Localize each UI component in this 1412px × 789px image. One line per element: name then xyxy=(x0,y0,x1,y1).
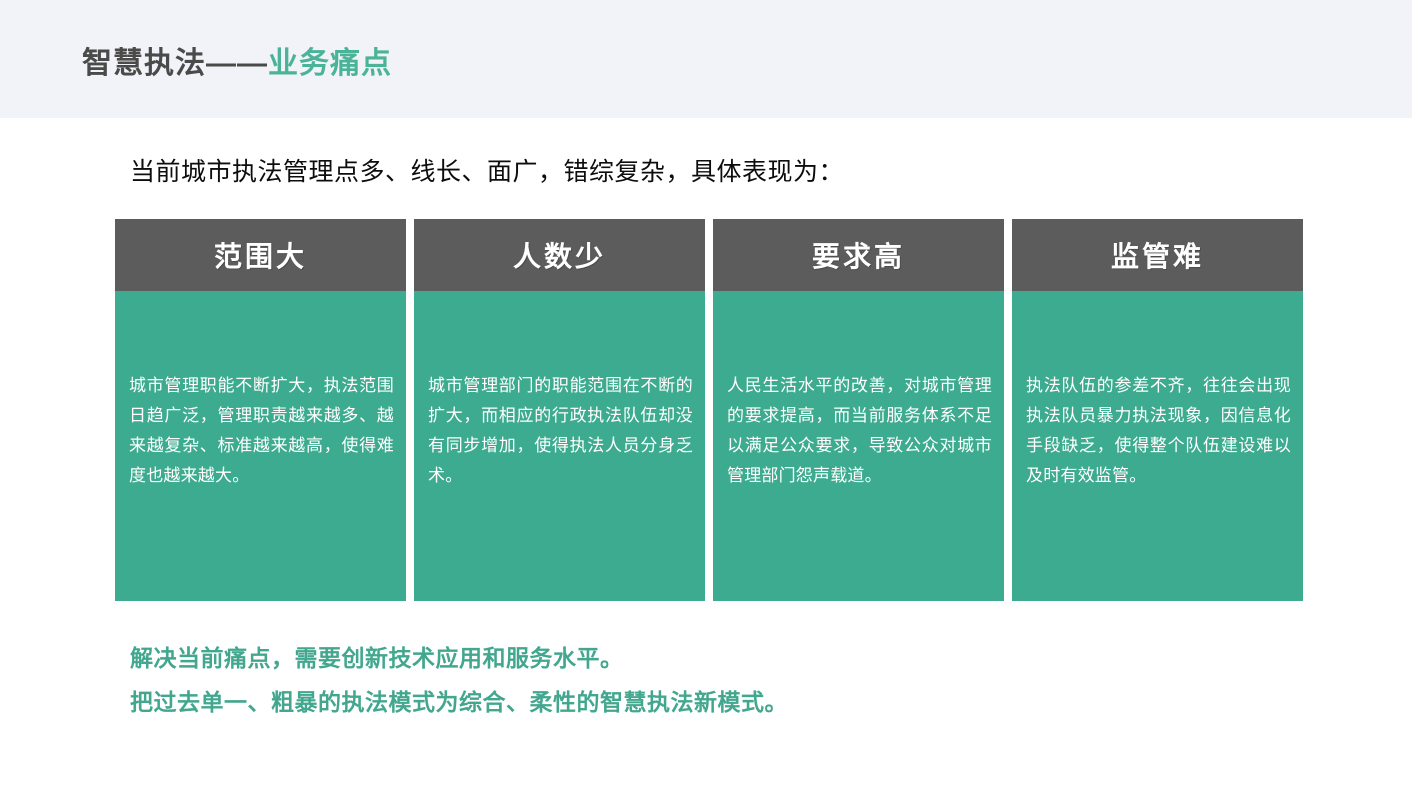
card-body: 城市管理部门的职能范围在不断的扩大，而相应的行政执法队伍却没有同步增加，使得执法… xyxy=(414,291,705,601)
page-title: 智慧执法——业务痛点 xyxy=(82,44,392,84)
pain-point-card: 要求高 人民生活水平的改善，对城市管理的要求提高，而当前服务体系不足以满足公众要… xyxy=(713,219,1004,601)
conclusion-block: 解决当前痛点，需要创新技术应用和服务水平。 把过去单一、粗暴的执法模式为综合、柔… xyxy=(130,636,1330,724)
card-header: 人数少 xyxy=(414,219,705,291)
intro-paragraph: 当前城市执法管理点多、线长、面广，错综复杂，具体表现为： xyxy=(130,154,844,190)
page-title-accent: 业务痛点 xyxy=(268,47,392,80)
card-description: 执法队伍的参差不齐，往往会出现执法队员暴力执法现象，因信息化手段缺乏，使得整个队… xyxy=(1026,371,1291,491)
card-title: 监管难 xyxy=(1111,235,1204,275)
slide-header-band: 智慧执法——业务痛点 xyxy=(0,0,1412,118)
conclusion-line: 把过去单一、粗暴的执法模式为综合、柔性的智慧执法新模式。 xyxy=(130,680,1330,724)
page-title-main: 智慧执法—— xyxy=(82,47,268,80)
card-header: 监管难 xyxy=(1012,219,1303,291)
card-title: 范围大 xyxy=(214,235,307,275)
card-body: 人民生活水平的改善，对城市管理的要求提高，而当前服务体系不足以满足公众要求，导致… xyxy=(713,291,1004,601)
pain-point-card: 人数少 城市管理部门的职能范围在不断的扩大，而相应的行政执法队伍却没有同步增加，… xyxy=(414,219,705,601)
pain-point-card-row: 范围大 城市管理职能不断扩大，执法范围日趋广泛，管理职责越来越多、越来越复杂、标… xyxy=(115,219,1303,601)
card-header: 要求高 xyxy=(713,219,1004,291)
pain-point-card: 监管难 执法队伍的参差不齐，往往会出现执法队员暴力执法现象，因信息化手段缺乏，使… xyxy=(1012,219,1303,601)
card-body: 城市管理职能不断扩大，执法范围日趋广泛，管理职责越来越多、越来越复杂、标准越来越… xyxy=(115,291,406,601)
pain-point-card: 范围大 城市管理职能不断扩大，执法范围日趋广泛，管理职责越来越多、越来越复杂、标… xyxy=(115,219,406,601)
card-body: 执法队伍的参差不齐，往往会出现执法队员暴力执法现象，因信息化手段缺乏，使得整个队… xyxy=(1012,291,1303,601)
conclusion-line: 解决当前痛点，需要创新技术应用和服务水平。 xyxy=(130,636,1330,680)
card-title: 人数少 xyxy=(513,235,606,275)
card-description: 城市管理职能不断扩大，执法范围日趋广泛，管理职责越来越多、越来越复杂、标准越来越… xyxy=(129,371,394,491)
card-description: 人民生活水平的改善，对城市管理的要求提高，而当前服务体系不足以满足公众要求，导致… xyxy=(727,371,992,491)
card-title: 要求高 xyxy=(812,235,905,275)
card-description: 城市管理部门的职能范围在不断的扩大，而相应的行政执法队伍却没有同步增加，使得执法… xyxy=(428,371,693,491)
card-header: 范围大 xyxy=(115,219,406,291)
